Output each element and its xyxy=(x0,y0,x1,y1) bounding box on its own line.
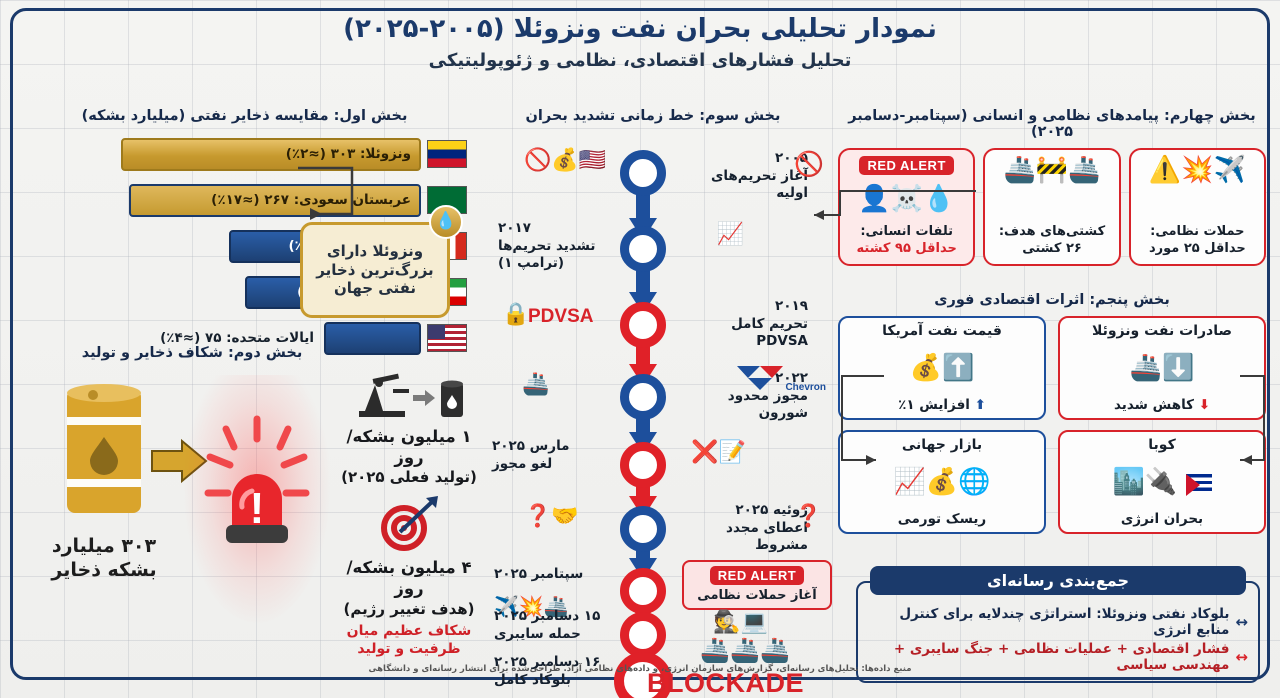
infographic-page: نمودار تحلیلی بحران نفت ونزوئلا (۲۰۰۵-۲۰… xyxy=(0,0,1280,698)
casualties-red-alert-pill: RED ALERT xyxy=(859,156,953,175)
timeline-node-2017[interactable] xyxy=(620,226,666,272)
pdvsa-logo: PDVSA xyxy=(528,306,593,328)
oil-barrel-icon xyxy=(49,375,159,525)
pumpjack-to-barrel-icon xyxy=(349,369,469,421)
down-arrow-sinking-ship-icon: ⬇️🚢 xyxy=(1066,355,1258,381)
economic-connector-arrows-right xyxy=(1236,330,1280,530)
box-venezuela-exports-caption: ⬇ کاهش شدید xyxy=(1066,397,1258,413)
timeline-node-2005[interactable] xyxy=(620,150,666,196)
timeline-label-2019: ۲۰۱۹ تحریم کامل PDVSA xyxy=(688,298,808,351)
card-military-attacks-text: حملات نظامی: حداقل ۲۵ مورد xyxy=(1149,224,1246,258)
burning-ship-icon: 🚢🚧🚢 xyxy=(1003,156,1100,185)
section5-title: بخش پنجم: اثرات اقتصادی فوری xyxy=(838,292,1266,308)
timeline-label-2017: ۲۰۱۷ تشدید تحریم‌ها (ترامپ ۱) xyxy=(498,220,618,273)
military-attacks-alert: RED ALERT آغاز حملات نظامی xyxy=(682,560,832,610)
header: نمودار تحلیلی بحران نفت ونزوئلا (۲۰۰۵-۲۰… xyxy=(0,14,1280,71)
card-target-ships: 🚢🚧🚢 کشتی‌های هدف: ۲۶ کشتی xyxy=(983,148,1120,266)
production-gap-figures: ۱ میلیون بشکه/روز (تولید فعلی ۲۰۲۵) ۴ می… xyxy=(334,369,484,658)
target-icon xyxy=(376,494,442,552)
box-cuba: کوبا 🔌🏙️ بحران انرژی xyxy=(1058,430,1266,534)
fighter-jet-explosion-icon: ✈️💥⚠️ xyxy=(1149,156,1246,185)
red-alarm-icon: ! xyxy=(182,395,332,595)
timeline-node-2019[interactable] xyxy=(620,302,666,348)
card-human-casualties-text: تلفات انسانی: حداقل ۹۵ کشته xyxy=(857,224,957,258)
section4-title: بخش چهارم: پیامدهای نظامی و انسانی (سپتا… xyxy=(838,108,1266,140)
current-production-note: (تولید فعلی ۲۰۲۵) xyxy=(334,468,484,486)
reserves-callout: 💧 ونزوئلا دارای بزرگ‌ترین ذخایر نفتی جها… xyxy=(300,222,450,318)
barrel-caption: ۳۰۳ میلیارد بشکه ذخایر xyxy=(34,535,174,583)
usa-sanctions-icon: 🇺🇸💰🚫 xyxy=(524,150,606,172)
footer-source: منبع داده‌ها: تحلیل‌های رسانه‌ای، گزارش‌… xyxy=(0,664,1280,674)
no-entry-usa-icon: 🚫 xyxy=(794,152,824,176)
page-title: نمودار تحلیلی بحران نفت ونزوئلا (۲۰۰۵-۲۰… xyxy=(0,14,1280,44)
summary-line-1: ↔ بلوکاد نفتی ونزوئلا: استراتژی چندلایه … xyxy=(868,606,1248,638)
red-alert-pill: RED ALERT xyxy=(710,566,804,585)
card-target-ships-text: کشتی‌های هدف: ۲۶ کشتی xyxy=(999,224,1105,258)
reserve-label-usa: ایالات متحده: ۷۵ (≈۴٪) xyxy=(160,330,314,346)
economic-boxes: صادرات نفت ونزوئلا ⬇️🚢 ⬇ کاهش شدید قیمت … xyxy=(838,316,1266,534)
section-production-gap: بخش دوم: شکاف ذخایر و تولید ۳۰۳ میلیارد … xyxy=(22,345,482,365)
timeline-node-2022[interactable] xyxy=(620,374,666,420)
cargo-ship-icon: 🚢 xyxy=(522,374,549,396)
box-venezuela-exports-title: صادرات نفت ونزوئلا xyxy=(1066,323,1258,339)
alarm-group: ! xyxy=(182,375,332,625)
section1-title: بخش اول: مقایسه ذخایر نفتی (میلیارد بشکه… xyxy=(22,108,467,124)
target-production-value: ۴ میلیون بشکه/روز xyxy=(334,558,484,599)
question-mark-icon: ❓ xyxy=(795,506,822,528)
target-production-note: (هدف تغییر رژیم) xyxy=(334,600,484,618)
section-timeline: بخش سوم: خط زمانی تشدید بحران xyxy=(488,108,818,668)
timeline-node-september-2025[interactable] xyxy=(620,568,666,614)
economic-connector-arrows xyxy=(832,330,892,510)
lock-icon: 🔒 xyxy=(502,304,529,326)
cancelled-license-icon: 📝❌ xyxy=(691,442,746,464)
cuba-flag-plug-city-icon: 🔌🏙️ xyxy=(1066,469,1258,495)
cyber-attack-hacker-icon: 💻🕵️ xyxy=(713,612,768,634)
bullet-arrow-icon: ↔ xyxy=(1235,613,1248,631)
section2-title: بخش دوم: شکاف ذخایر و تولید xyxy=(22,345,362,361)
box-venezuela-exports: صادرات نفت ونزوئلا ⬇️🚢 ⬇ کاهش شدید xyxy=(1058,316,1266,420)
timeline-node-july-2025[interactable] xyxy=(620,506,666,552)
current-production-value: ۱ میلیون بشکه/روز xyxy=(334,427,484,468)
chevron-mark-icon xyxy=(737,366,783,390)
rising-chart-icon: 📈 xyxy=(717,224,744,246)
oil-drop-icon: 💧 xyxy=(429,205,463,239)
chevron-logo: Chevron xyxy=(737,366,826,393)
timeline-node-march-2025[interactable] xyxy=(620,442,666,488)
timeline-label-2005: ۲۰۰۵ آغاز تحریم‌های اولیه xyxy=(698,150,808,203)
timeline-to-military-arrow xyxy=(800,185,980,225)
timeline-label-september-2025: سپتامبر ۲۰۲۵ xyxy=(494,566,624,584)
section3-title: بخش سوم: خط زمانی تشدید بحران xyxy=(488,108,818,124)
box-cuba-caption: بحران انرژی xyxy=(1066,511,1258,527)
conditional-hand-question-icon: 🤝❓ xyxy=(524,506,579,528)
military-attacks-alert-text: آغاز حملات نظامی xyxy=(690,588,824,603)
card-military-attacks: ✈️💥⚠️ حملات نظامی: حداقل ۲۵ مورد xyxy=(1129,148,1266,266)
section-economic-impact: بخش پنجم: اثرات اقتصادی فوری صادرات نفت … xyxy=(838,292,1266,534)
reserves-callout-text: ونزوئلا دارای بزرگ‌ترین ذخایر نفتی جهان xyxy=(307,242,443,298)
gap-warning-text: شکاف عظیم میان ظرفیت و تولید xyxy=(334,622,484,658)
blockade-ships-icon: 🚢🚢🚢 xyxy=(700,638,790,662)
timeline-label-march-2025: مارس ۲۰۲۵ لغو مجوز xyxy=(492,438,612,473)
timeline-label-december-15: ۱۵ دسامبر ۲۰۲۵ حمله سایبری xyxy=(494,608,614,643)
box-global-market-caption: ریسک تورمی xyxy=(846,511,1038,527)
timeline-label-july-2025: ژوئیه ۲۰۲۵ اعطای مجدد مشروط xyxy=(678,502,808,555)
box-cuba-title: کوبا xyxy=(1066,437,1258,453)
page-subtitle: تحلیل فشارهای اقتصادی، نظامی و ژئوپولیتی… xyxy=(0,50,1280,71)
